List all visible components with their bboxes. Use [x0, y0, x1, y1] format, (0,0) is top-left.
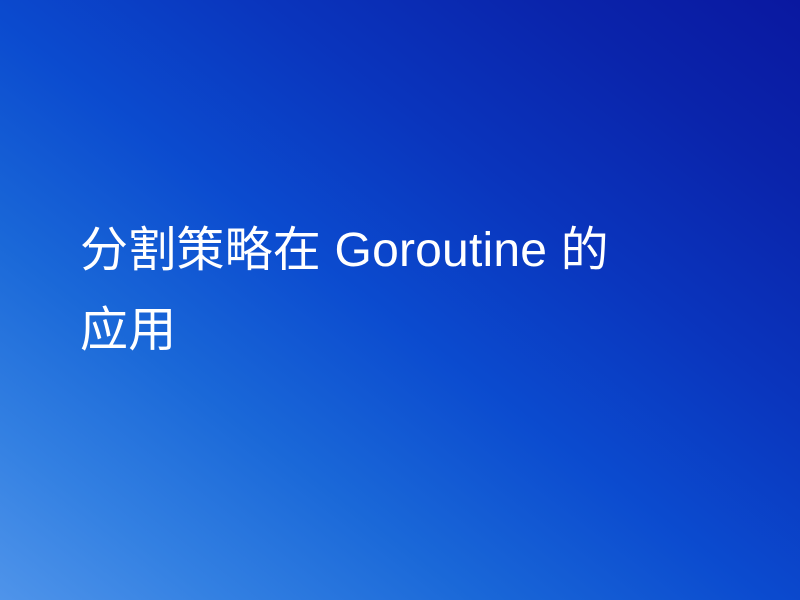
- title-slide: 分割策略在 Goroutine 的应用: [0, 0, 800, 600]
- title-block: 分割策略在 Goroutine 的应用: [80, 211, 620, 371]
- page-title: 分割策略在 Goroutine 的应用: [80, 211, 620, 371]
